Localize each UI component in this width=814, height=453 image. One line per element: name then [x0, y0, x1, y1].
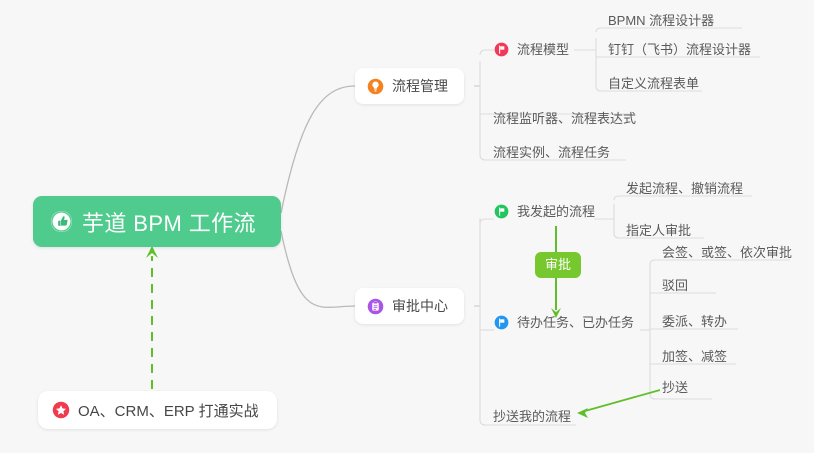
root-label: 芋道 BPM 工作流 [82, 206, 256, 238]
branch-label-process-management: 流程管理 [392, 76, 448, 96]
leaf-label-process-instance: 流程实例、流程任务 [493, 144, 610, 161]
thumbs-up-icon [50, 210, 73, 233]
leaf-label-reject: 驳回 [662, 277, 688, 294]
leaf-label-start-cancel-process: 发起流程、撤销流程 [626, 180, 743, 197]
leaf-label-process-listener: 流程监听器、流程表达式 [493, 110, 636, 127]
leaf-delegate-transfer[interactable]: 委派、转办 [655, 313, 734, 335]
approve-badge: 审批 [535, 252, 581, 278]
approve-badge-label: 审批 [545, 257, 571, 272]
leaf-todo-done-tasks[interactable]: 待办任务、已办任务 [494, 314, 641, 336]
leaf-my-initiated[interactable]: 我发起的流程 [494, 203, 602, 225]
leaf-label-cc: 抄送 [662, 379, 688, 396]
callout-node-integration[interactable]: OA、CRM、ERP 打通实战 [38, 391, 277, 429]
leaf-reject[interactable]: 驳回 [655, 277, 695, 299]
leaf-label-cc-to-me: 抄送我的流程 [493, 408, 571, 425]
leaf-process-listener[interactable]: 流程监听器、流程表达式 [486, 110, 643, 132]
lightbulb-icon [367, 78, 384, 95]
leaf-label-assignee-approval: 指定人审批 [626, 222, 691, 239]
star-icon [52, 401, 70, 419]
leaf-custom-form[interactable]: 自定义流程表单 [601, 75, 706, 97]
callout-label: OA、CRM、ERP 打通实战 [78, 400, 259, 421]
leaf-dingtalk-designer[interactable]: 钉钉（飞书）流程设计器 [601, 41, 758, 63]
leaf-countersign[interactable]: 会签、或签、依次审批 [655, 244, 799, 266]
leaf-label-process-model: 流程模型 [517, 41, 569, 58]
flag-icon [494, 42, 509, 57]
root-node[interactable]: 芋道 BPM 工作流 [33, 196, 281, 247]
leaf-process-model[interactable]: 流程模型 [494, 41, 576, 63]
clipboard-icon [367, 298, 384, 315]
leaf-assignee-approval[interactable]: 指定人审批 [619, 222, 698, 244]
branch-label-approval-center: 审批中心 [392, 296, 448, 316]
leaf-start-cancel-process[interactable]: 发起流程、撤销流程 [619, 180, 750, 202]
leaf-label-delegate-transfer: 委派、转办 [662, 313, 727, 330]
leaf-label-bpmn-designer: BPMN 流程设计器 [608, 12, 714, 29]
leaf-cc[interactable]: 抄送 [655, 379, 695, 401]
leaf-label-todo-done-tasks: 待办任务、已办任务 [517, 314, 634, 331]
leaf-cc-to-me[interactable]: 抄送我的流程 [486, 408, 578, 430]
leaf-label-add-remove-sign: 加签、减签 [662, 348, 727, 365]
leaf-label-dingtalk-designer: 钉钉（飞书）流程设计器 [608, 41, 751, 58]
leaf-bpmn-designer[interactable]: BPMN 流程设计器 [601, 12, 721, 34]
leaf-label-countersign: 会签、或签、依次审批 [662, 244, 792, 261]
leaf-label-my-initiated: 我发起的流程 [517, 203, 595, 220]
leaf-add-remove-sign[interactable]: 加签、减签 [655, 348, 734, 370]
leaf-label-custom-form: 自定义流程表单 [608, 75, 699, 92]
mindmap-canvas: 芋道 BPM 工作流 流程管理 审批中心 [0, 0, 814, 453]
branch-node-approval-center[interactable]: 审批中心 [355, 288, 464, 324]
flag-icon [494, 315, 509, 330]
flag-icon [494, 204, 509, 219]
branch-node-process-management[interactable]: 流程管理 [355, 68, 464, 104]
leaf-process-instance[interactable]: 流程实例、流程任务 [486, 144, 617, 166]
